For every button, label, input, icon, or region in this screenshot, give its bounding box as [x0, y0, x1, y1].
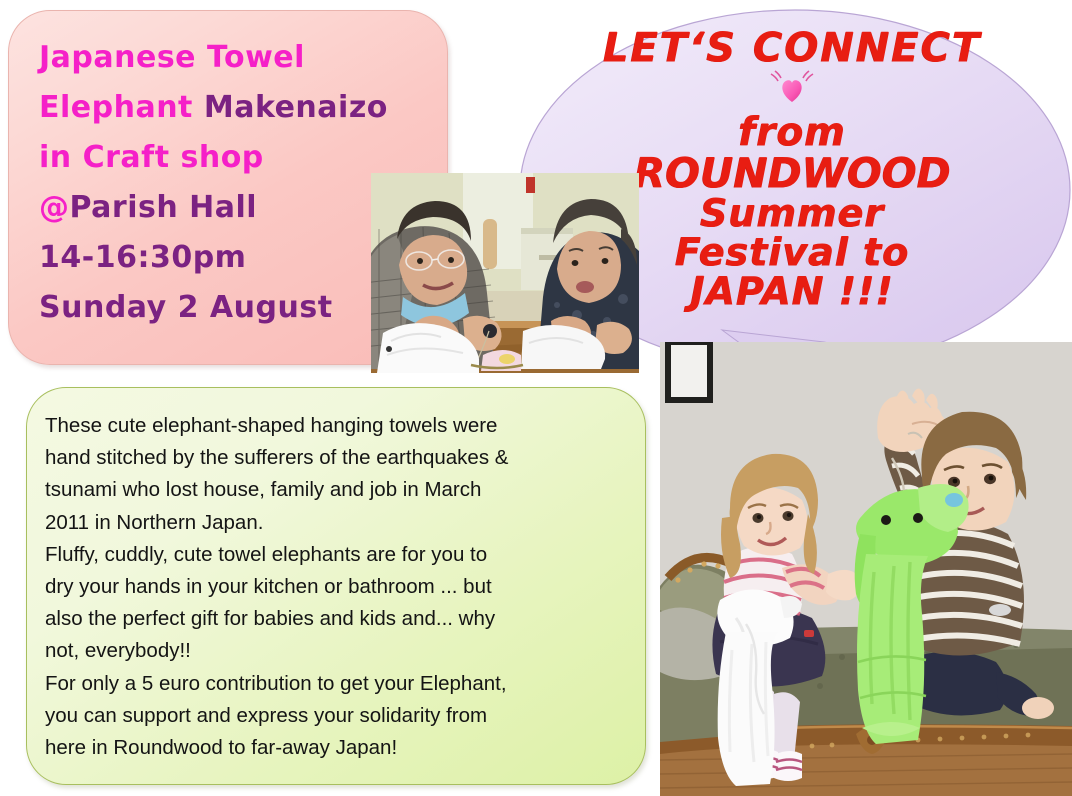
beating-heart-glyph — [769, 69, 815, 103]
description-line: These cute elephant-shaped hanging towel… — [45, 410, 621, 442]
bubble-line-lets-connect: LET‘S CONNECT — [512, 28, 1072, 69]
bubble-line-from: from — [512, 113, 1072, 153]
event-line-title-1: Japanese Towel — [39, 33, 431, 83]
description-line: here in Roundwood to far-away Japan! — [45, 732, 621, 764]
description-line: not, everybody!! — [45, 635, 621, 667]
event-title-part-1: Japanese Towel — [39, 40, 305, 75]
event-date: Sunday 2 August — [39, 290, 333, 325]
at-symbol-icon: @ — [39, 190, 70, 225]
description-line: tsunami who lost house, family and job i… — [45, 474, 621, 506]
event-time: 14-16:30pm — [39, 240, 246, 275]
photo-women-sewing-towels — [371, 173, 639, 373]
event-title-makenaizo: Makenaizo — [204, 90, 388, 125]
description-line: dry your hands in your kitchen or bathro… — [45, 571, 621, 603]
beating-heart-icon — [512, 69, 1072, 113]
description-line: 2011 in Northern Japan. — [45, 507, 621, 539]
description-line: hand stitched by the sufferers of the ea… — [45, 442, 621, 474]
event-venue-name: Parish Hall — [70, 190, 258, 225]
description-line: you can support and express your solidar… — [45, 700, 621, 732]
description-box: These cute elephant-shaped hanging towel… — [26, 387, 646, 785]
description-line: For only a 5 euro contribution to get yo… — [45, 668, 621, 700]
description-line: also the perfect gift for babies and kid… — [45, 603, 621, 635]
event-title-part-2: Elephant — [39, 90, 204, 125]
event-venue-type-label: in Craft shop — [39, 140, 264, 175]
description-line: Fluffy, cuddly, cute towel elephants are… — [45, 539, 621, 571]
event-line-title-2: Elephant Makenaizo — [39, 83, 431, 133]
photo-children-with-towel-elephants — [660, 342, 1072, 796]
